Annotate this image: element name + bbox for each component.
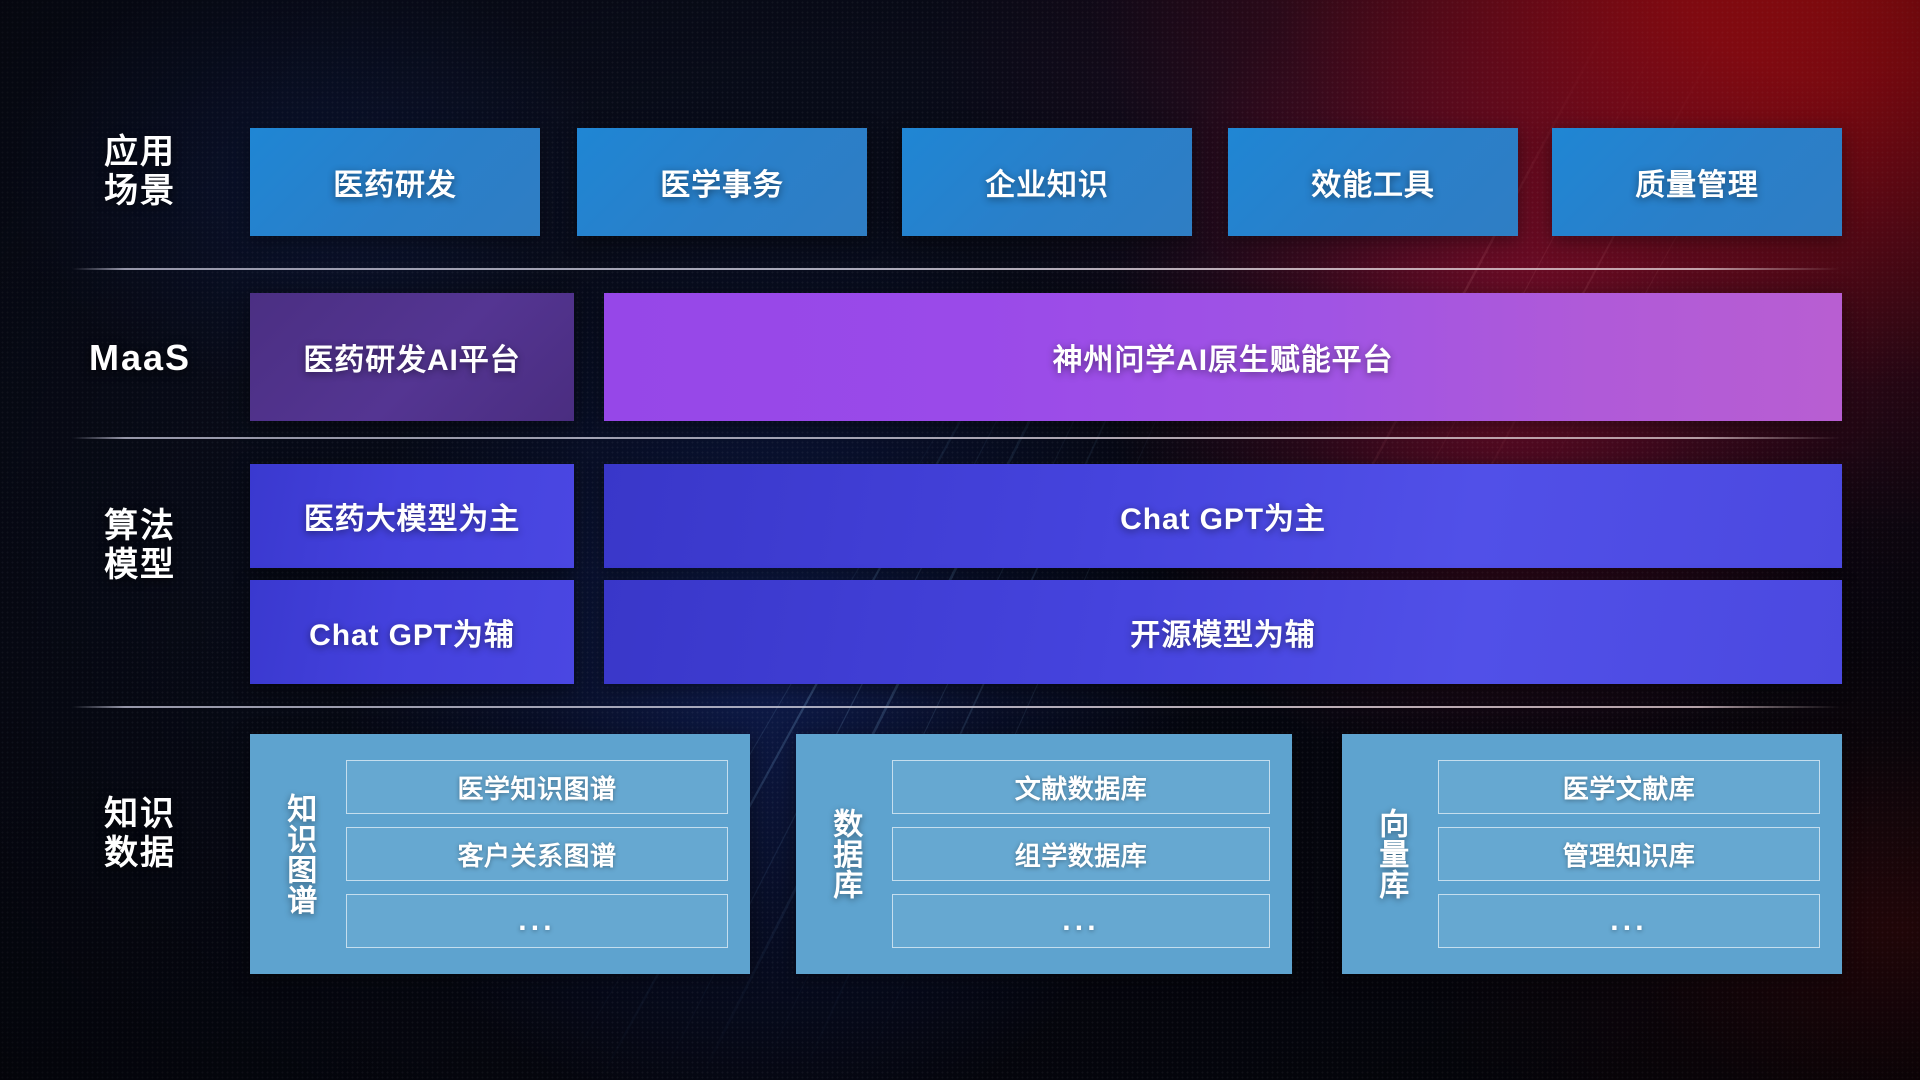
knowledge-group-2-item-3[interactable]: ... [892,894,1270,948]
app-card-4-label: 效能工具 [1311,160,1435,204]
knowledge-group-3[interactable]: 向量库 医学文献库 管理知识库 ... [1342,734,1842,974]
row-separator-3 [72,706,1840,708]
algo-card-right-1-label: Chat GPT为主 [1120,494,1326,538]
app-card-5[interactable]: 质量管理 [1552,128,1842,236]
knowledge-group-1-items: 医学知识图谱 客户关系图谱 ... [346,734,728,974]
app-card-1-label: 医药研发 [333,160,457,204]
maas-platform-bar-label: 神州问学AI原生赋能平台 [1053,335,1394,379]
row-separator-1 [72,268,1840,270]
algo-card-left-2[interactable]: Chat GPT为辅 [250,580,574,684]
diagram-canvas: 应用场景 医药研发 医学事务 企业知识 效能工具 质量管理 MaaS 医药研发A… [0,0,1920,1080]
app-card-3[interactable]: 企业知识 [902,128,1192,236]
algo-card-right-1[interactable]: Chat GPT为主 [604,464,1842,568]
knowledge-group-2-item-2[interactable]: 组学数据库 [892,827,1270,881]
row-label-maas: MaaS [80,337,200,379]
app-card-5-label: 质量管理 [1635,160,1759,204]
app-card-3-label: 企业知识 [985,160,1109,204]
knowledge-group-2-items: 文献数据库 组学数据库 ... [892,734,1270,974]
knowledge-group-2-item-1[interactable]: 文献数据库 [892,760,1270,814]
maas-platform-bar[interactable]: 神州问学AI原生赋能平台 [604,293,1842,421]
app-card-2[interactable]: 医学事务 [577,128,867,236]
knowledge-group-3-item-3[interactable]: ... [1438,894,1820,948]
row-label-algorithm-model: 算法模型 [80,507,200,586]
knowledge-group-1-label: 知识图谱 [250,734,346,974]
app-card-2-label: 医学事务 [660,160,784,204]
algo-card-right-2-label: 开源模型为辅 [1130,610,1315,654]
row-label-knowledge-text: 知识数据 [80,795,200,874]
row-label-maas-text: MaaS [89,337,191,378]
knowledge-group-1-item-1[interactable]: 医学知识图谱 [346,760,728,814]
knowledge-group-1-item-2[interactable]: 客户关系图谱 [346,827,728,881]
app-card-4[interactable]: 效能工具 [1228,128,1518,236]
knowledge-group-3-items: 医学文献库 管理知识库 ... [1438,734,1820,974]
knowledge-group-3-item-1[interactable]: 医学文献库 [1438,760,1820,814]
maas-left-card-label: 医药研发AI平台 [303,335,520,379]
row-label-application-scenario: 应用场景 [80,133,200,212]
knowledge-group-2[interactable]: 数据库 文献数据库 组学数据库 ... [796,734,1292,974]
knowledge-group-2-label: 数据库 [796,734,892,974]
row-separator-2 [72,437,1840,439]
row-label-knowledge-data: 知识数据 [80,795,200,874]
knowledge-group-1-item-3[interactable]: ... [346,894,728,948]
knowledge-group-3-label: 向量库 [1342,734,1438,974]
algo-card-left-1-label: 医药大模型为主 [304,494,520,538]
maas-left-card[interactable]: 医药研发AI平台 [250,293,574,421]
app-card-1[interactable]: 医药研发 [250,128,540,236]
knowledge-group-3-item-2[interactable]: 管理知识库 [1438,827,1820,881]
row-label-algorithm-text: 算法模型 [80,507,200,586]
algo-card-left-2-label: Chat GPT为辅 [309,610,515,654]
algo-card-left-1[interactable]: 医药大模型为主 [250,464,574,568]
algo-card-right-2[interactable]: 开源模型为辅 [604,580,1842,684]
row-label-line-1: 应用场景 [80,133,200,212]
knowledge-group-1[interactable]: 知识图谱 医学知识图谱 客户关系图谱 ... [250,734,750,974]
